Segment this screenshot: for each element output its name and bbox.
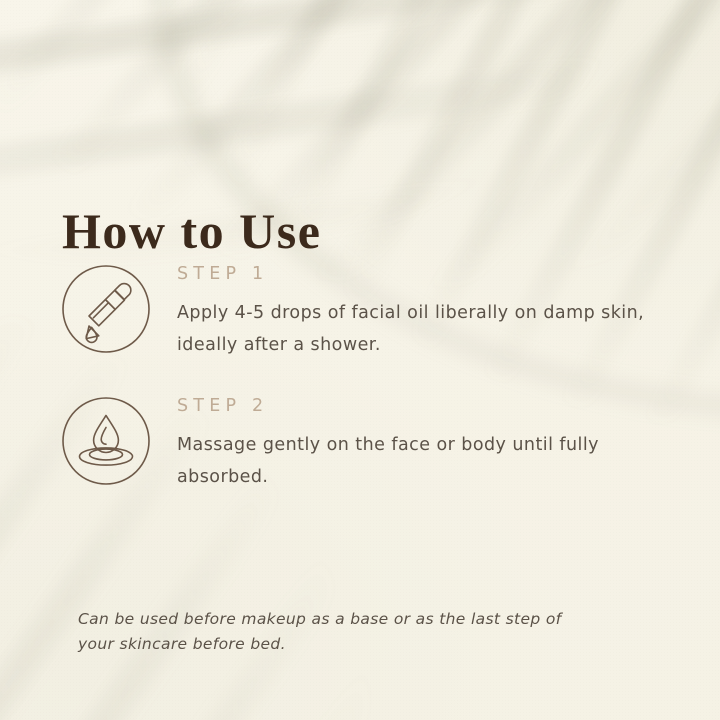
step-1-text-block: STEP 1 Apply 4-5 drops of facial oil lib… <box>177 264 720 362</box>
poster-content: How to Use <box>0 0 720 720</box>
step-2-text-block: STEP 2 Massage gently on the face or bod… <box>177 396 720 494</box>
how-to-use-poster: How to Use <box>0 0 720 720</box>
water-drop-ripple-icon <box>62 397 150 485</box>
footer-note: Can be used before makeup as a base or a… <box>78 607 578 657</box>
step-2-label: STEP 2 <box>177 396 720 416</box>
dropper-icon <box>62 265 150 353</box>
step-1-body: Apply 4-5 drops of facial oil liberally … <box>177 298 682 362</box>
step-2-body: Massage gently on the face or body until… <box>177 430 682 494</box>
page-title: How to Use <box>62 206 321 256</box>
step-1-label: STEP 1 <box>177 264 720 284</box>
